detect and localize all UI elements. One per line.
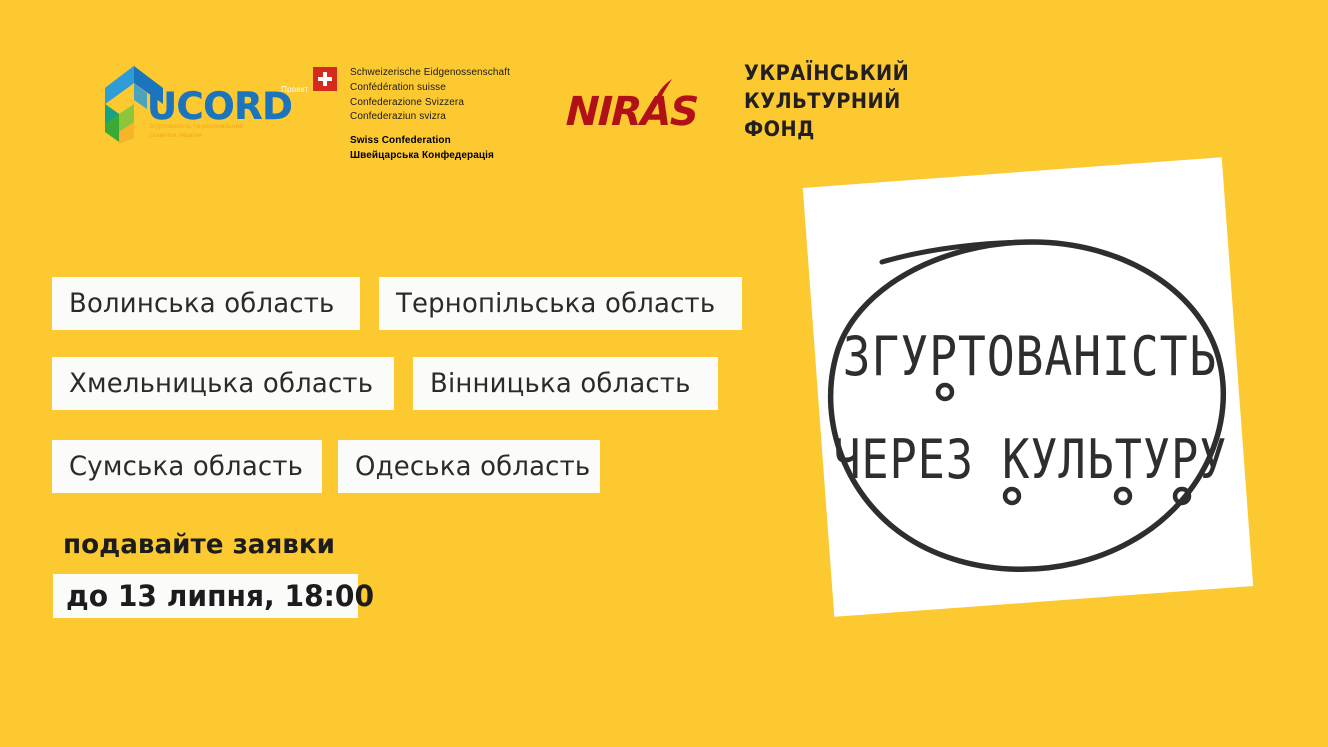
swiss-language-lines: Schweizerische Eidgenossenschaft Confédé… [350, 66, 510, 125]
region-item-volyn: Волинська область [52, 277, 360, 330]
hero-line-2: ЧЕРЕЗ КУЛЬТУРУ [833, 428, 1227, 491]
swiss-flag-icon [313, 67, 337, 91]
swiss-bold-lines: Swiss Confederation Швейцарська Конфедер… [350, 134, 494, 163]
ucord-superscript: Проект [281, 85, 309, 94]
region-item-sumy: Сумська область [52, 440, 322, 493]
niras-wordmark: NIRAS [565, 92, 698, 132]
region-item-vinnytsia: Вінницька область [413, 357, 718, 410]
hero-oval-stroke [831, 242, 1224, 569]
deadline-date-box: до 13 липня, 18:00 [53, 574, 358, 618]
region-item-khmelnytskyi: Хмельницька область [52, 357, 394, 410]
region-label: Хмельницька область [69, 368, 373, 399]
niras-logo: NIRAS [566, 82, 706, 132]
region-label: Вінницька область [430, 368, 691, 399]
ucf-line-2: КУЛЬТУРНИЙ [744, 88, 873, 116]
hero-emblem: ЗГУРТОВАНІСТЬ ЧЕРЕЗ КУЛЬТУРУ [790, 160, 1270, 640]
deadline-date: до 13 липня, 18:00 [66, 579, 374, 613]
swiss-label-en: Swiss Confederation [350, 134, 494, 149]
swiss-lang-de: Schweizerische Eidgenossenschaft [350, 66, 510, 81]
region-label: Одеська область [355, 451, 590, 482]
ucord-wordmark: UCORD [147, 88, 292, 125]
ucord-tagline: Згуртованість та регіональний розвиток У… [149, 122, 279, 141]
swiss-label-uk: Швейцарська Конфедерація [350, 149, 494, 164]
ukrainian-cultural-foundation-logo: УКРАЇНСЬКИЙ КУЛЬТУРНИЙ ФОНД [744, 60, 884, 160]
region-item-odesa: Одеська область [338, 440, 600, 493]
hero-dot-decoration [1116, 489, 1130, 503]
region-label: Волинська область [69, 288, 335, 319]
swiss-lang-it: Confederazione Svizzera [350, 96, 510, 111]
hero-dot-decoration [938, 385, 952, 399]
ucord-logo: UCORD Проект Згуртованість та регіональн… [103, 64, 273, 150]
poster-canvas: UCORD Проект Згуртованість та регіональн… [0, 0, 1328, 747]
hero-line-1: ЗГУРТОВАНІСТЬ [843, 325, 1218, 388]
partner-logo-strip: UCORD Проект Згуртованість та регіональн… [0, 0, 1328, 175]
region-label: Тернопільська область [396, 288, 715, 319]
deadline-heading: подавайте заявки [63, 529, 335, 560]
ucf-line-3: ФОНД [744, 116, 873, 144]
swiss-confederation-logo: Schweizerische Eidgenossenschaft Confédé… [313, 66, 543, 158]
niras-swoosh-icon [650, 78, 676, 104]
ucord-tagline-line-2: розвиток України [149, 131, 279, 140]
hero-dot-decoration [1175, 489, 1189, 503]
swiss-lang-fr: Confédération suisse [350, 81, 510, 96]
swiss-lang-rm: Confederaziun svizra [350, 110, 510, 125]
hero-emblem-artwork: ЗГУРТОВАНІСТЬ ЧЕРЕЗ КУЛЬТУРУ [790, 160, 1270, 640]
region-label: Сумська область [69, 451, 303, 482]
hero-dot-decoration [1005, 489, 1019, 503]
ucord-tagline-line-1: Згуртованість та регіональний [149, 122, 279, 131]
region-item-ternopil: Тернопільська область [379, 277, 742, 330]
swiss-cross-horizontal [318, 77, 332, 81]
ucf-line-1: УКРАЇНСЬКИЙ [744, 60, 873, 88]
